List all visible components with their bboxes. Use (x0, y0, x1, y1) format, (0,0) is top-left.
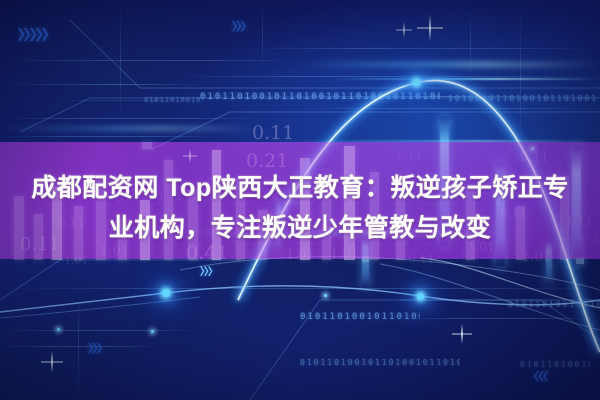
headline-line-1: 成都配资网 Top陕西大正教育：叛逆孩子矫正专 (31, 174, 568, 202)
headline-line-2: 业机构，专注叛逆少年管教与改变 (0, 208, 600, 248)
banner-image: 〉〉〉〉〉 〉〉〉 〉〉〉 〈〈〈 〉〉〉 010110100101101001… (0, 0, 600, 400)
headline-text: 成都配资网 Top陕西大正教育：叛逆孩子矫正专 业机构，专注叛逆少年管教与改变 (0, 168, 600, 248)
